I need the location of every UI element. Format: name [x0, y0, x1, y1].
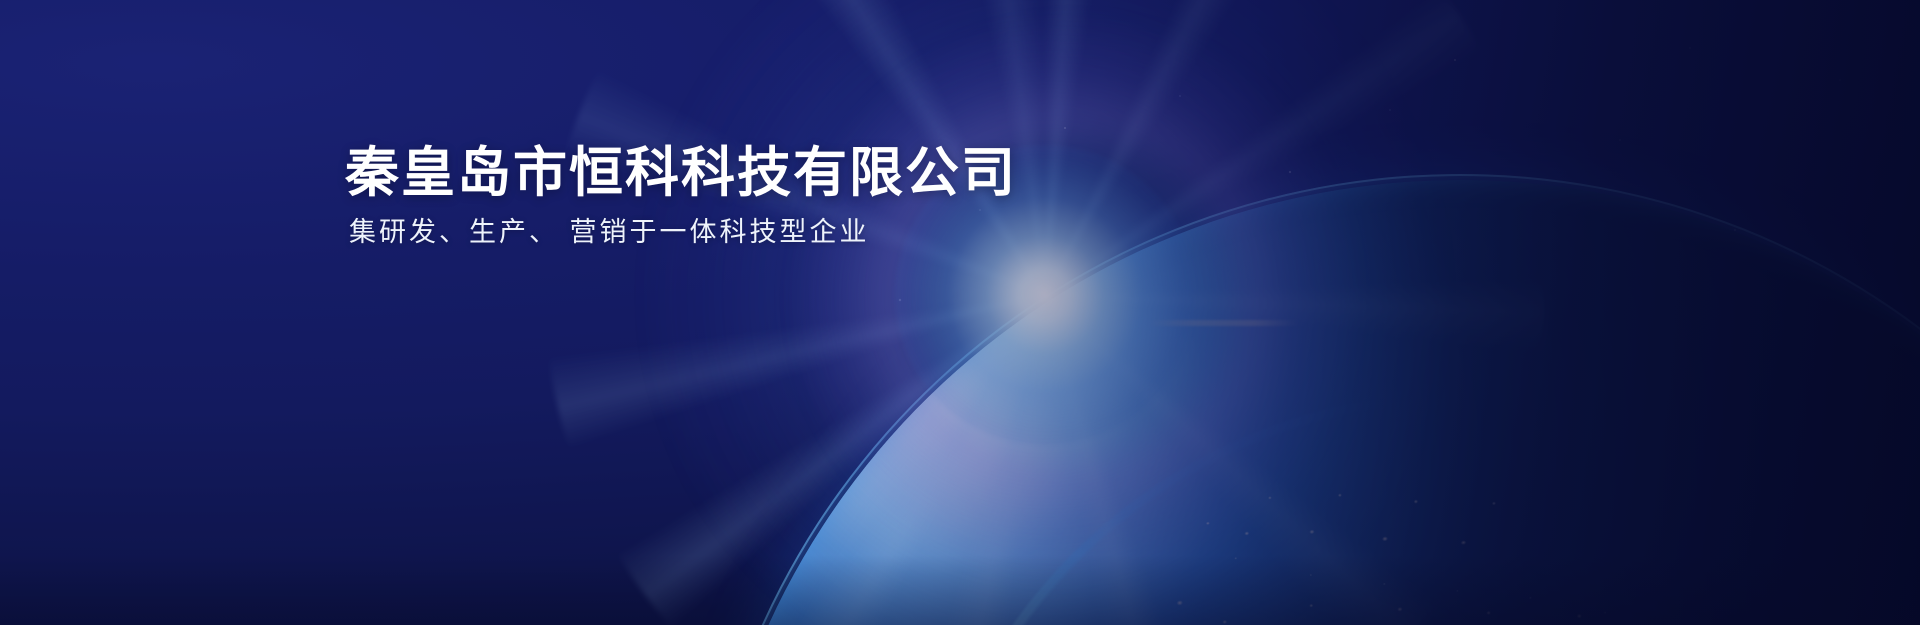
company-tagline: 集研发、生产、 营销于一体科技型企业	[349, 215, 1017, 250]
company-title: 秦皇岛市恒科科技有限公司	[345, 143, 1017, 203]
bottom-vignette	[0, 555, 1920, 625]
right-side-darkening	[0, 0, 1920, 625]
hero-banner: 秦皇岛市恒科科技有限公司 集研发、生产、 营销于一体科技型企业	[0, 0, 1920, 625]
hero-text-block: 秦皇岛市恒科科技有限公司 集研发、生产、 营销于一体科技型企业	[345, 143, 1017, 251]
